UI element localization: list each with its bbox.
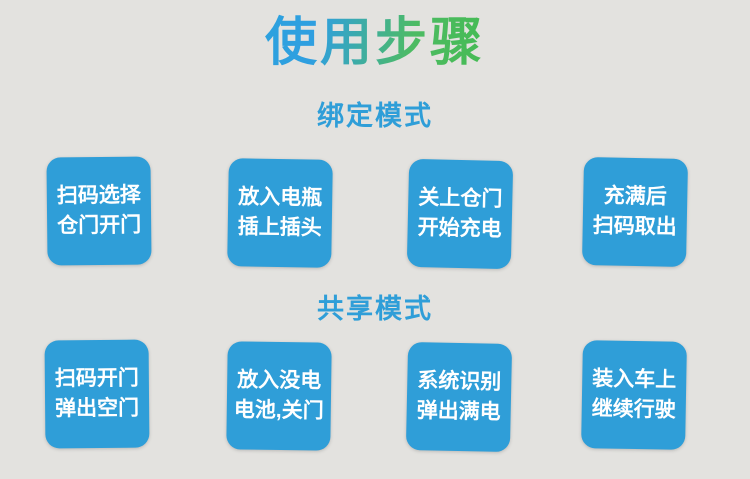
step-row-bind-mode: 扫码选择 仓门开门 放入电瓶 插上插头 关上仓门 开始充电 充满后 扫码取出 xyxy=(0,152,750,272)
step-box-bind-4[interactable]: 充满后 扫码取出 xyxy=(582,157,688,267)
step-box-line2: 仓门开门 xyxy=(57,211,141,242)
step-box-line2: 开始充电 xyxy=(417,213,502,245)
step-row-shared-mode: 扫码开门 弹出空门 放入没电 电池,关门 系统识别 弹出满电 装入车上 继续行驶 xyxy=(0,336,750,456)
section-title-shared-mode: 共享模式 xyxy=(0,287,750,326)
step-box-shared-3[interactable]: 系统识别 弹出满电 xyxy=(406,342,512,452)
step-box-shared-2[interactable]: 放入没电 电池,关门 xyxy=(226,341,331,450)
step-box-line1: 装入车上 xyxy=(592,364,677,395)
step-box-bind-1[interactable]: 扫码选择 仓门开门 xyxy=(46,156,151,265)
step-box-line2: 扫码取出 xyxy=(592,211,677,243)
step-box-line1: 放入没电 xyxy=(237,365,321,396)
step-box-bind-2[interactable]: 放入电瓶 插上插头 xyxy=(227,158,333,268)
step-box-line1: 扫码开门 xyxy=(55,364,139,395)
step-box-shared-1[interactable]: 扫码开门 弹出空门 xyxy=(45,340,150,449)
step-box-line2: 弹出满电 xyxy=(416,396,501,428)
step-box-shared-4[interactable]: 装入车上 继续行驶 xyxy=(581,340,687,450)
usage-steps-infographic: 使用步骤 绑定模式 扫码选择 仓门开门 放入电瓶 插上插头 关上仓门 开始充电 … xyxy=(0,0,750,479)
step-box-line1: 充满后 xyxy=(604,181,668,212)
step-box-line2: 继续行驶 xyxy=(591,394,676,425)
page-title: 使用步骤 xyxy=(0,12,750,74)
step-box-line1: 扫码选择 xyxy=(57,181,141,212)
step-box-line1: 系统识别 xyxy=(417,366,502,398)
step-box-line1: 关上仓门 xyxy=(418,183,503,215)
step-box-line1: 放入电瓶 xyxy=(238,182,322,213)
step-box-bind-3[interactable]: 关上仓门 开始充电 xyxy=(407,159,513,269)
step-box-line2: 弹出空门 xyxy=(55,394,139,425)
step-box-line2: 电池,关门 xyxy=(234,395,324,426)
section-title-bind-mode: 绑定模式 xyxy=(0,94,750,133)
step-box-line2: 插上插头 xyxy=(238,212,322,243)
